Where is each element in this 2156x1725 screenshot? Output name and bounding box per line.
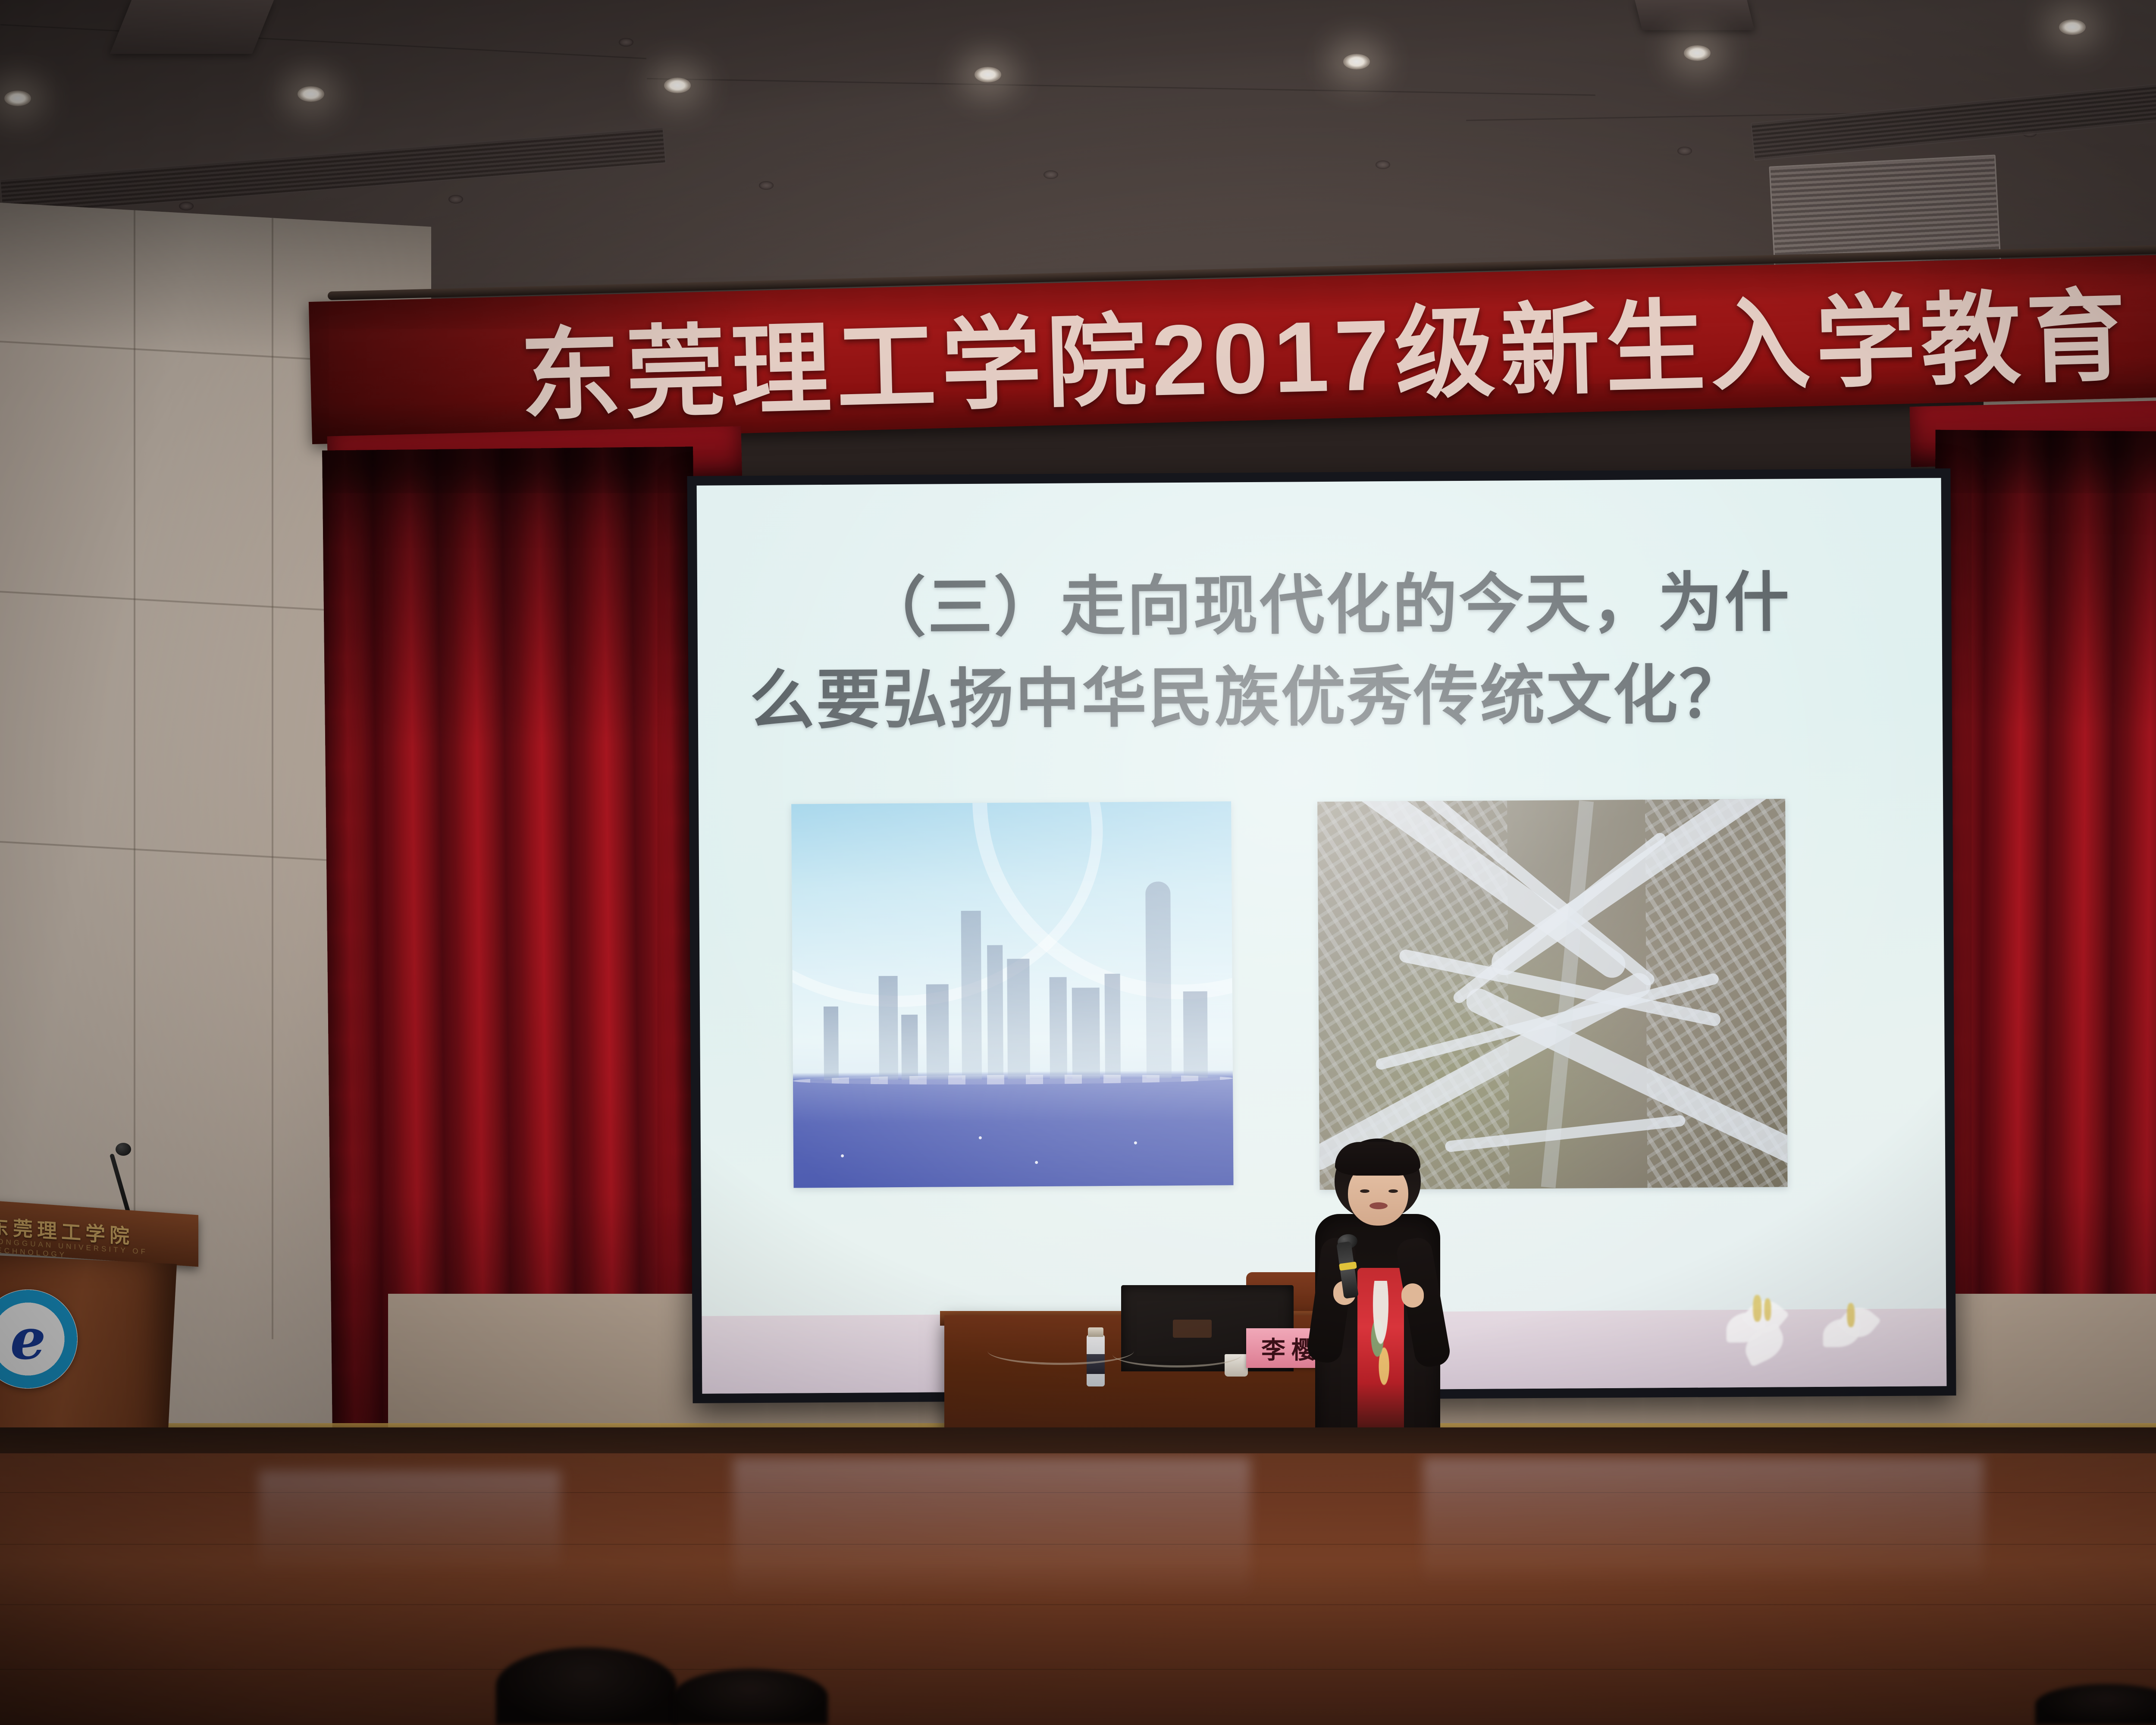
recessed-light-off-icon bbox=[2022, 129, 2037, 137]
presenter-fringe bbox=[1335, 1142, 1420, 1176]
ceiling-soffit-right bbox=[1635, 0, 1754, 30]
ceiling-soffit-left bbox=[110, 0, 274, 54]
bottle-cap-icon bbox=[1088, 1327, 1103, 1337]
slide-title-line-1: （三）走向现代化的今天，为什 bbox=[749, 556, 1862, 655]
stage-floor bbox=[0, 1453, 2156, 1725]
city-water bbox=[793, 1078, 1234, 1188]
recessed-light-off-icon bbox=[1376, 160, 1390, 169]
laptop-badge bbox=[1173, 1320, 1212, 1338]
recessed-light-icon bbox=[1684, 45, 1711, 61]
recessed-light-icon bbox=[4, 91, 31, 106]
recessed-light-off-icon bbox=[179, 202, 194, 210]
recessed-light-icon bbox=[1343, 54, 1370, 69]
slide-title: （三）走向现代化的今天，为什 么要弘扬中华民族优秀传统文化？ bbox=[749, 556, 1863, 746]
presenter-mouth bbox=[1369, 1202, 1388, 1209]
power-cable bbox=[1112, 1341, 1242, 1367]
power-cable bbox=[987, 1337, 1134, 1365]
audience-head-silhouette bbox=[673, 1669, 828, 1725]
microphone-head-icon bbox=[116, 1143, 131, 1156]
recessed-light-off-icon bbox=[1044, 170, 1058, 179]
recessed-light-icon bbox=[298, 86, 324, 102]
recessed-light-off-icon bbox=[619, 38, 633, 47]
audience-head-silhouette bbox=[496, 1647, 677, 1725]
recessed-light-icon bbox=[664, 78, 691, 93]
hvac-vent-icon bbox=[1751, 50, 2156, 161]
auditorium-scene: 东莞理工学院2017级新生入学教育 （三）走向现代化的今天，为什 么要弘扬中华民… bbox=[0, 0, 2156, 1725]
presenter-hand-right bbox=[1401, 1283, 1424, 1308]
recessed-light-off-icon bbox=[1677, 147, 1692, 155]
emblem-glyph: e bbox=[10, 1306, 46, 1372]
recessed-light-off-icon bbox=[448, 195, 463, 204]
presenter-dress bbox=[1357, 1268, 1404, 1453]
recessed-light-off-icon bbox=[759, 181, 774, 190]
floral-decoration-icon bbox=[1717, 1295, 1804, 1368]
slide-image-highway-interchange bbox=[1317, 799, 1787, 1190]
slide-image-city-skyline bbox=[791, 801, 1233, 1188]
dress-pattern bbox=[1360, 1281, 1401, 1410]
floral-decoration-icon bbox=[1817, 1303, 1895, 1368]
recessed-light-icon bbox=[2059, 19, 2086, 35]
hvac-vent-icon bbox=[0, 127, 666, 216]
slide-title-line-2: 么要弘扬中华民族优秀传统文化？ bbox=[749, 648, 1862, 746]
recessed-light-icon bbox=[975, 67, 1001, 82]
